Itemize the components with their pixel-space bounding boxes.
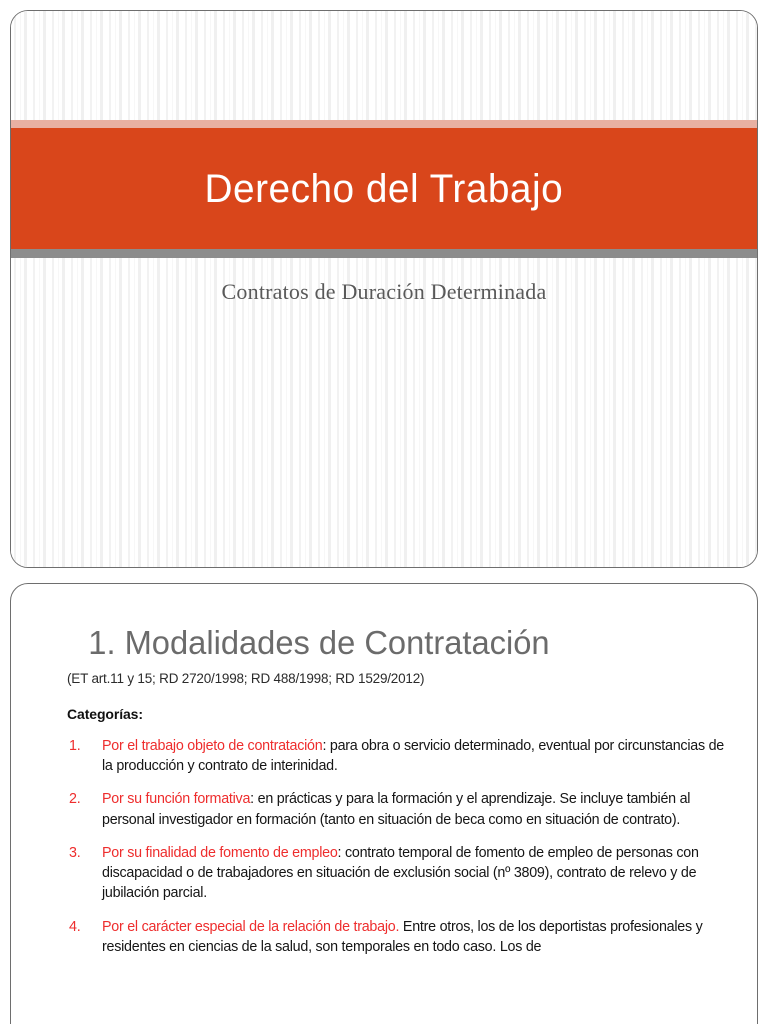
list-item-lead: Por el carácter especial de la relación … (102, 919, 399, 935)
legal-references: (ET art.11 y 15; RD 2720/1998; RD 488/19… (67, 671, 739, 686)
deck-title: Derecho del Trabajo (205, 169, 564, 209)
list-item: 4. Por el carácter especial de la relaci… (67, 917, 733, 958)
list-item-lead: Por su función formativa (102, 791, 250, 807)
page-title: 1. Modalidades de Contratación (88, 626, 735, 661)
content-slide[interactable]: 1. Modalidades de Contratación (ET art.1… (10, 583, 758, 1024)
title-band: Derecho del Trabajo (11, 120, 757, 258)
list-item-number: 3. (69, 843, 91, 863)
deck-subtitle: Contratos de Duración Determinada (11, 279, 757, 305)
list-item-number: 1. (69, 736, 91, 756)
categories-label: Categorías: (67, 706, 739, 722)
list-item-number: 4. (69, 917, 91, 937)
band-gray-accent (11, 249, 757, 258)
list-item: 2. Por su función formativa: en práctica… (67, 789, 733, 830)
title-slide[interactable]: Derecho del Trabajo Contratos de Duració… (10, 10, 758, 568)
list-item-lead: Por su finalidad de fomento de empleo (102, 845, 338, 861)
content-body: 1. Modalidades de Contratación (ET art.1… (11, 584, 757, 1024)
slide-page: Derecho del Trabajo Contratos de Duració… (0, 0, 768, 1024)
categories-list: 1. Por el trabajo objeto de contratación… (57, 736, 739, 958)
list-item-lead: Por el trabajo objeto de contratación (102, 738, 322, 754)
list-item: 3. Por su finalidad de fomento de empleo… (67, 843, 733, 904)
band-orange-accent: Derecho del Trabajo (11, 128, 757, 249)
list-item-number: 2. (69, 789, 91, 809)
list-item: 1. Por el trabajo objeto de contratación… (67, 736, 733, 777)
band-pink-accent (11, 120, 757, 128)
